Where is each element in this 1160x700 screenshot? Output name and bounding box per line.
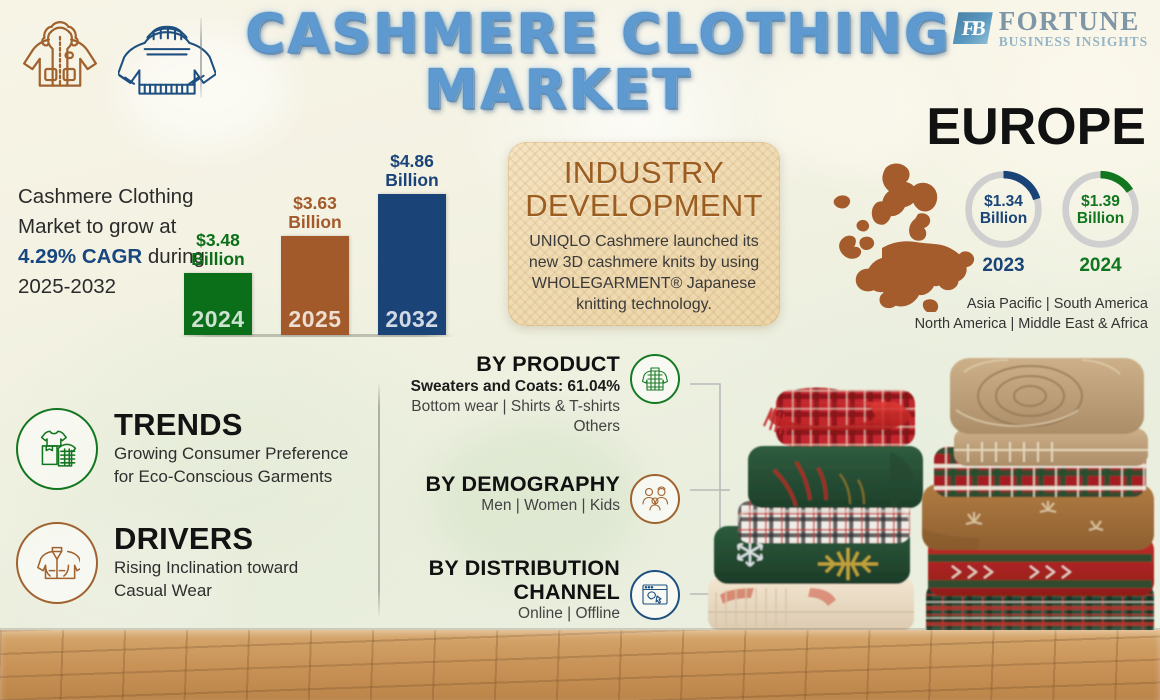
drivers-block: DRIVERS Rising Inclination toward Casual…	[16, 522, 366, 604]
by-product-sub-line-1: Bottom wear | Shirts & T-shirts	[410, 397, 620, 417]
bar-column-2025: $3.63 Billion 2025	[281, 236, 349, 335]
donut-unit-2023: Billion	[980, 210, 1027, 227]
by-demography-text: BY DEMOGRAPHY Men | Women | Kids	[410, 472, 620, 516]
cagr-line-2: Market to	[18, 215, 103, 238]
fortune-business-insights-logo[interactable]: FB FORTUNE BUSINESS INSIGHTS	[953, 8, 1148, 49]
bar-column-2032: $4.86 Billion 2032	[378, 194, 446, 335]
folded-garments-icon	[34, 426, 80, 472]
bar-amount-2032: $4.86	[390, 151, 434, 171]
donut-year-2023: 2023	[962, 255, 1045, 277]
regions-list: Asia Pacific | South America North Ameri…	[884, 294, 1148, 334]
bar-unit-2032: Billion	[385, 170, 438, 190]
drivers-icon-circle	[16, 522, 98, 604]
drivers-text: DRIVERS Rising Inclination toward Casual…	[114, 522, 298, 602]
by-distribution-text: BY DISTRIBUTION CHANNEL Online | Offline	[410, 556, 620, 624]
logo-mark-icon: FB	[953, 12, 993, 44]
bar-column-2024: $3.48 Billion 2024	[184, 273, 252, 335]
infographic-canvas: CASHMERE CLOTHING MARKET FB FORTUNE BUSI…	[0, 0, 1160, 700]
logo-name: FORTUNE	[999, 8, 1148, 35]
donut-2024: $1.39 Billion 2024	[1059, 168, 1142, 277]
bar-value-label-2024: $3.48 Billion	[191, 231, 244, 269]
donut-ring-2023: $1.34 Billion	[962, 168, 1045, 251]
by-distribution-heading-line-1: BY DISTRIBUTION	[429, 556, 620, 580]
drivers-body-line-2: Casual Wear	[114, 580, 298, 602]
by-distribution-heading-line-2: CHANNEL	[513, 580, 620, 604]
bar-2024: 2024	[184, 273, 252, 335]
donut-year-2024: 2024	[1059, 255, 1142, 277]
industry-development-body: UNIQLO Cashmere launched its new 3D cash…	[518, 231, 770, 315]
logo-text: FORTUNE BUSINESS INSIGHTS	[999, 8, 1148, 49]
cashmere-clothing-photo	[700, 352, 1160, 648]
europe-value-donuts: $1.34 Billion 2023 $1.39 Billion 2024	[962, 168, 1142, 277]
cagr-line-1: Cashmere Clothing	[18, 185, 193, 208]
industry-development-card: INDUSTRY DEVELOPMENT UNIQLO Cashmere lau…	[508, 142, 780, 326]
trends-icon-circle	[16, 408, 98, 490]
bar-amount-2025: $3.63	[293, 193, 337, 213]
cagr-rate: 4.29%	[18, 245, 76, 268]
id-heading-line-1: INDUSTRY	[564, 155, 724, 190]
bar-unit-2024: Billion	[191, 249, 244, 269]
title-line-1: CASHMERE CLOTHING	[245, 2, 951, 65]
by-distribution-sub-line-1: Online | Offline	[410, 604, 620, 624]
donut-amount-2023: $1.34	[984, 193, 1023, 210]
bar-year-2032: 2032	[378, 306, 446, 333]
europe-region-title: EUROPE	[926, 100, 1146, 154]
drivers-body-line-1: Rising Inclination toward	[114, 557, 298, 579]
donut-amount-2024: $1.39	[1081, 193, 1120, 210]
donut-unit-2024: Billion	[1077, 210, 1124, 227]
jacket-icon	[34, 540, 80, 586]
parka-coat-icon	[14, 12, 106, 104]
online-shopping-icon	[640, 580, 670, 610]
bar-2032: 2032	[378, 194, 446, 335]
bar-2025: 2025	[281, 236, 349, 335]
by-product-text: BY PRODUCT Sweaters and Coats: 61.04% Bo…	[410, 352, 620, 437]
bar-year-2024: 2024	[184, 306, 252, 333]
by-demography-icon-circle	[630, 474, 680, 524]
by-product-highlight: Sweaters and Coats: 61.04%	[410, 377, 620, 397]
trends-body-line-2: for Eco-Conscious Garments	[114, 466, 348, 488]
donut-value-2023: $1.34 Billion	[962, 168, 1045, 251]
by-demography-sub-line-1: Men | Women | Kids	[410, 496, 620, 516]
donut-2023: $1.34 Billion 2023	[962, 168, 1045, 277]
by-product-sub-line-2: Others	[410, 417, 620, 437]
bar-value-label-2032: $4.86 Billion	[385, 152, 438, 190]
title-line-2: MARKET	[148, 62, 968, 118]
bar-value-label-2025: $3.63 Billion	[288, 194, 341, 232]
by-product-icon-circle	[630, 354, 680, 404]
logo-mark-text: FB	[961, 16, 985, 41]
puffer-jacket-icon	[640, 364, 670, 394]
segment-by-demography: BY DEMOGRAPHY Men | Women | Kids	[410, 472, 680, 524]
segment-by-distribution-channel: BY DISTRIBUTION CHANNEL Online | Offline	[410, 556, 680, 624]
market-size-bar-chart: $3.48 Billion 2024 $3.63 Billion 2025 $4…	[178, 150, 443, 345]
by-product-heading: BY PRODUCT	[410, 352, 620, 376]
donut-value-2024: $1.39 Billion	[1059, 168, 1142, 251]
cagr-word: CAGR	[82, 245, 142, 268]
by-demography-heading: BY DEMOGRAPHY	[410, 472, 620, 496]
regions-line-1: Asia Pacific | South America	[884, 294, 1148, 314]
id-heading-line-2: DEVELOPMENT	[525, 188, 763, 223]
page-title: CASHMERE CLOTHING MARKET	[228, 6, 968, 118]
trends-block: TRENDS Growing Consumer Preference for E…	[16, 408, 366, 490]
trends-body-line-1: Growing Consumer Preference	[114, 443, 348, 465]
folded-textiles-illustration	[700, 352, 1160, 648]
bar-amount-2024: $3.48	[196, 230, 240, 250]
donut-ring-2024: $1.39 Billion	[1059, 168, 1142, 251]
cagr-line-3: grow at	[109, 215, 176, 238]
bar-year-2025: 2025	[281, 306, 349, 333]
regions-line-2: North America | Middle East & Africa	[884, 314, 1148, 334]
wood-floor	[0, 630, 1160, 700]
trends-text: TRENDS Growing Consumer Preference for E…	[114, 408, 348, 488]
by-distribution-heading: BY DISTRIBUTION CHANNEL	[410, 556, 620, 604]
segment-by-product: BY PRODUCT Sweaters and Coats: 61.04% Bo…	[410, 352, 680, 437]
trends-heading: TRENDS	[114, 408, 348, 442]
segmentation-divider	[378, 382, 380, 618]
by-distribution-icon-circle	[630, 570, 680, 620]
industry-development-heading: INDUSTRY DEVELOPMENT	[518, 156, 770, 222]
family-group-icon	[640, 484, 670, 514]
cagr-period: 2025-2032	[18, 275, 116, 298]
drivers-heading: DRIVERS	[114, 522, 298, 556]
logo-tagline: BUSINESS INSIGHTS	[999, 35, 1148, 49]
bar-unit-2025: Billion	[288, 212, 341, 232]
